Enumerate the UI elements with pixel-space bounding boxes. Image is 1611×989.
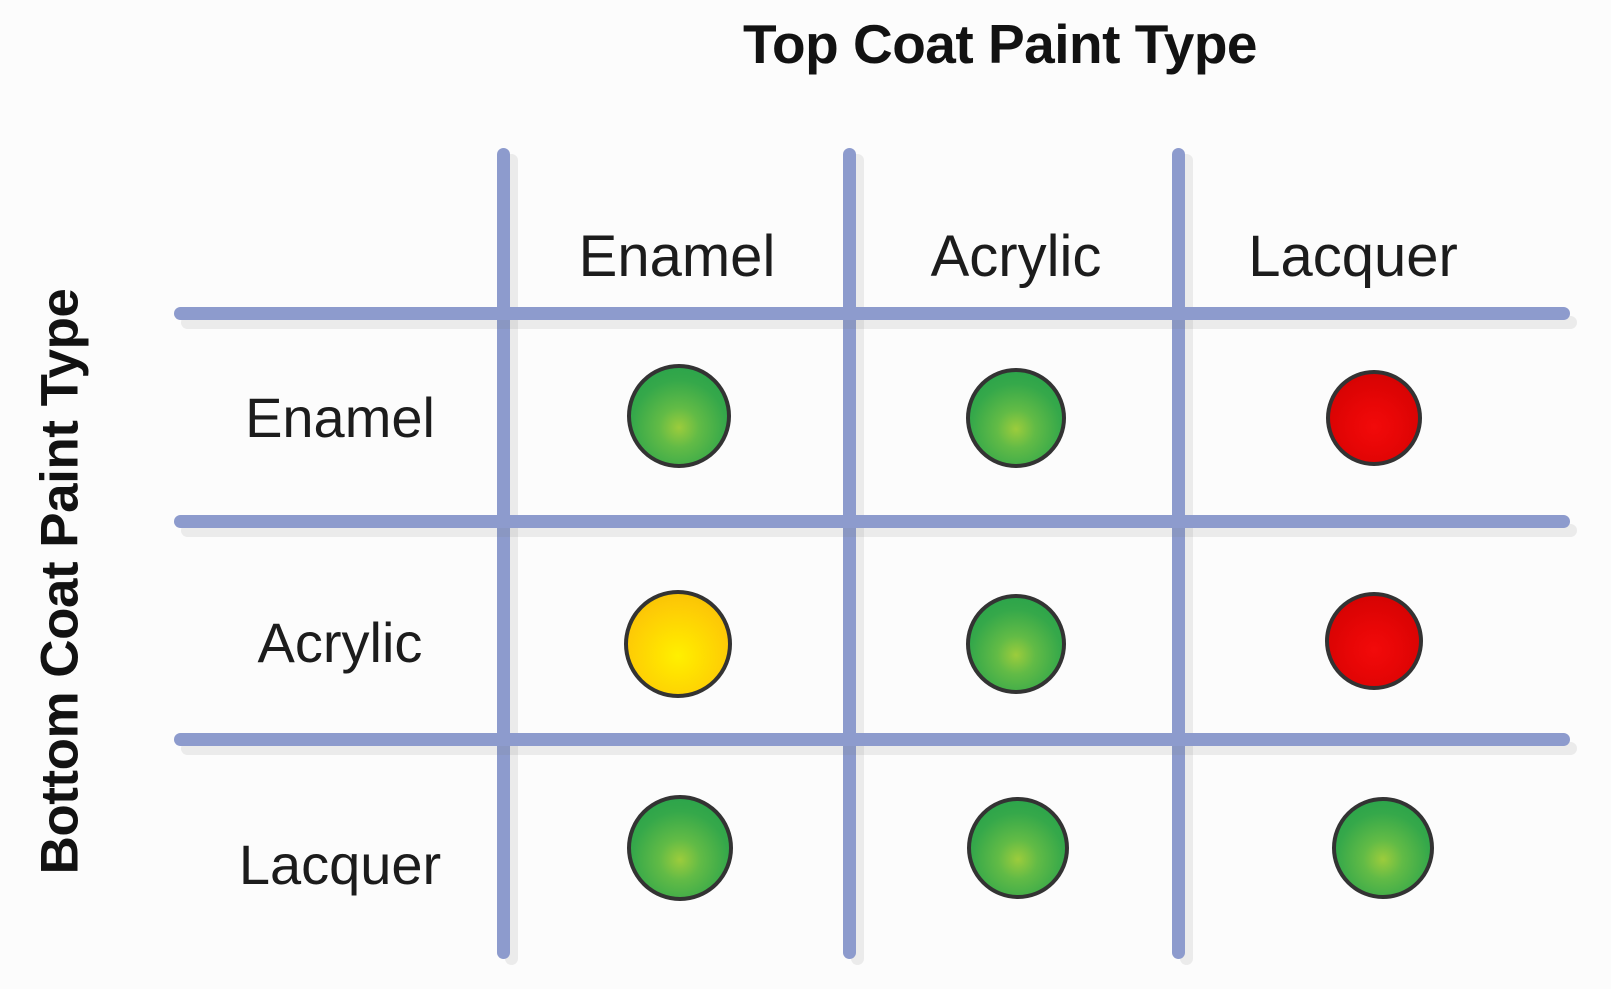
cell-status-enamel-lacquer[interactable] xyxy=(1326,370,1422,466)
row-axis-title: Bottom Coat Paint Type xyxy=(30,192,91,972)
grid-line-horizontal-1 xyxy=(174,307,1570,320)
grid-line-vertical-1 xyxy=(497,148,510,959)
row-header-enamel: Enamel xyxy=(190,373,490,463)
cell-status-lacquer-acrylic[interactable] xyxy=(967,797,1069,899)
cell-status-lacquer-lacquer[interactable] xyxy=(1332,797,1434,899)
cell-status-lacquer-enamel[interactable] xyxy=(627,795,733,901)
grid-line-horizontal-2 xyxy=(174,515,1570,528)
row-header-lacquer: Lacquer xyxy=(190,820,490,910)
grid-line-horizontal-3 xyxy=(174,733,1570,746)
paint-compatibility-matrix: Top Coat Paint Type Bottom Coat Paint Ty… xyxy=(0,0,1611,989)
grid-line-vertical-2 xyxy=(843,148,856,959)
cell-status-acrylic-lacquer[interactable] xyxy=(1325,592,1423,690)
cell-status-acrylic-acrylic[interactable] xyxy=(966,594,1066,694)
column-header-acrylic: Acrylic xyxy=(858,212,1174,302)
column-header-enamel: Enamel xyxy=(512,212,842,302)
cell-status-acrylic-enamel[interactable] xyxy=(624,590,732,698)
cell-status-enamel-enamel[interactable] xyxy=(627,364,731,468)
cell-status-enamel-acrylic[interactable] xyxy=(966,368,1066,468)
row-header-acrylic: Acrylic xyxy=(190,598,490,688)
column-axis-title: Top Coat Paint Type xyxy=(430,12,1570,76)
column-header-lacquer: Lacquer xyxy=(1188,212,1518,302)
